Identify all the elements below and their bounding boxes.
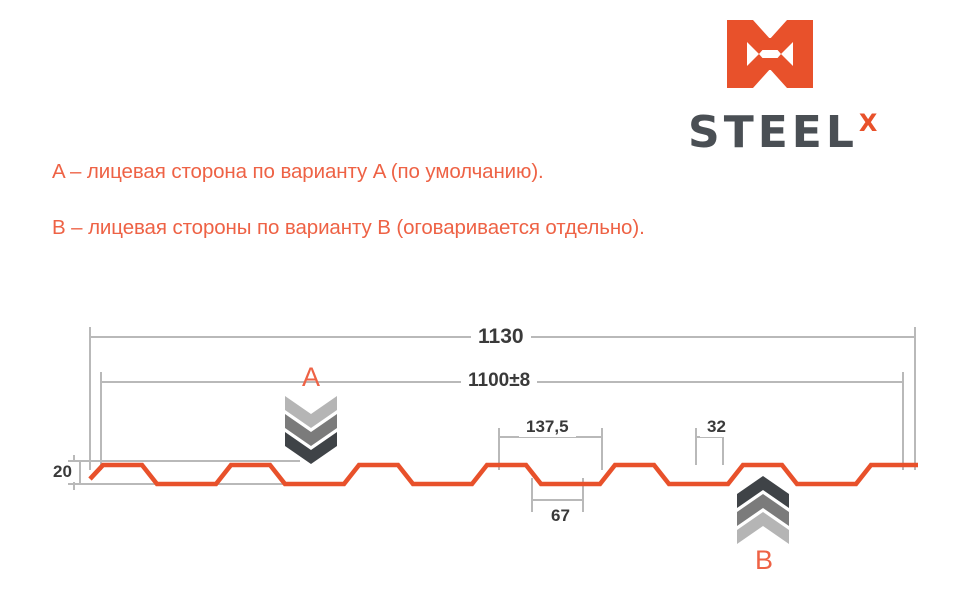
marker-a-chevrons [285,396,337,464]
profile-technical-drawing: 1130 1100±8 137,5 32 67 20 A B [0,0,970,597]
dimension-label-rib-top-width: 32 [700,417,733,437]
dimension-label-valley-width: 67 [544,506,577,526]
dimension-label-wave-pitch: 137,5 [519,417,576,437]
dimension-label-useful-width: 1100±8 [461,370,537,392]
trapezoidal-profile-outline [90,465,918,484]
marker-b-label: B [755,545,773,576]
marker-b-chevrons [737,476,789,544]
dimension-label-overall-width: 1130 [471,325,531,349]
dimension-label-profile-height: 20 [50,462,75,482]
marker-a-label: A [302,362,320,393]
